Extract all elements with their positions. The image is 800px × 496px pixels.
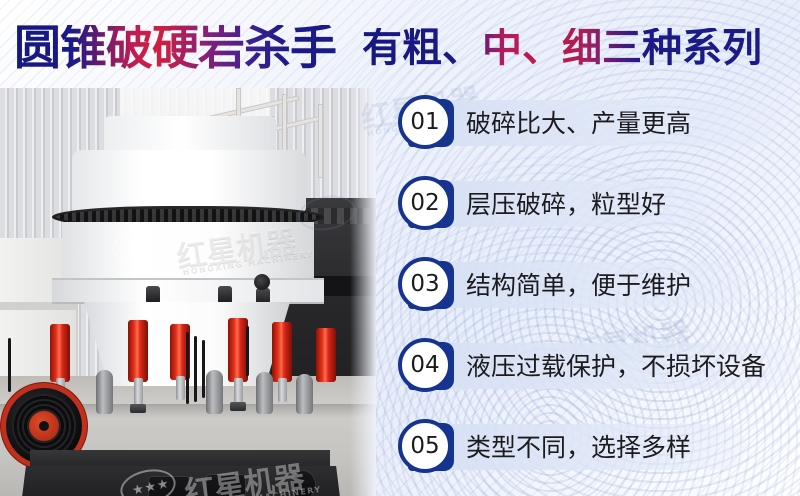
hydraulic-cylinder [272,322,292,382]
photo-inner: ★★★ 红星机器 HONGXING MACHINERY ★★★ 红星机器 HON… [0,88,376,496]
badge-circle-shape: 03 [398,257,452,311]
hydraulic-cylinder [128,320,148,382]
feature-list: 01 破碎比大、产量更高 02 层压破碎，粒型好 03 [398,92,800,496]
pulley-hub [29,411,59,441]
cylinder-rod [278,378,287,402]
badge-circle-shape: 05 [398,419,452,473]
hydraulic-hose [194,336,197,402]
feature-label: 类型不同，选择多样 [466,435,691,460]
base-opening [148,476,190,496]
feature-number: 01 [410,111,439,134]
feature-badge-02: 02 [398,176,454,232]
cylinder-rod [234,378,243,404]
cylinder-cap [230,402,246,411]
headline-primary: 圆锥破硬岩杀手 [14,25,336,72]
hydraulic-hose [8,338,11,392]
badge-circle-shape: 04 [398,338,452,392]
feature-number: 04 [410,354,439,377]
hydraulic-hose [202,340,205,398]
hydraulic-cylinder [50,324,70,382]
cylinder-rod [134,378,143,406]
title-row: 圆锥破硬岩杀手 有粗、中、细三种系列 [0,12,800,84]
badge-circle-shape: 02 [398,176,452,230]
accumulator [256,372,273,414]
badge-circle-shape: 01 [398,95,452,149]
stair-post [318,104,323,178]
headline-secondary: 有粗、中、细三种系列 [362,28,762,68]
feature-label: 液压过载保护，不损坏设备 [466,354,766,379]
cylinder-cap [130,404,146,413]
feature-badge-03: 03 [398,257,454,313]
feature-badge-05: 05 [398,419,454,475]
accumulator [206,370,223,414]
poster-canvas: 圆锥破硬岩杀手 有粗、中、细三种系列 [0,0,800,496]
crusher-middle-frame [62,222,314,286]
base-opening [290,470,316,496]
hydraulic-hose [186,332,189,404]
accumulator [96,370,113,414]
hydraulic-hose [246,326,249,376]
accumulator [296,374,313,414]
feature-badge-01: 01 [398,95,454,151]
feature-number: 02 [410,192,439,215]
feature-number: 03 [410,273,439,296]
base-opening [206,474,246,496]
feature-item-05[interactable]: 05 类型不同，选择多样 [398,416,800,478]
crusher-main-flange [52,278,324,304]
hydraulic-cylinder [316,328,336,382]
photo-right-fade [350,88,376,496]
feature-label: 层压破碎，粒型好 [466,192,666,217]
feature-item-04[interactable]: 04 液压过载保护，不损坏设备 [398,335,800,397]
flange-bolt [218,286,232,304]
feature-number: 05 [410,435,439,458]
valve-knob [254,274,270,290]
feature-label: 结构简单，便于维护 [466,273,691,298]
feature-badge-04: 04 [398,338,454,394]
cone-crusher-photo: ★★★ 红星机器 HONGXING MACHINERY ★★★ 红星机器 HON… [0,88,376,496]
hydraulic-cylinder [228,318,248,382]
flange-bolt [146,286,160,304]
cylinder-rod [176,376,185,400]
feature-item-03[interactable]: 03 结构简单，便于维护 [398,254,800,316]
feature-label: 破碎比大、产量更高 [466,111,691,136]
feature-item-01[interactable]: 01 破碎比大、产量更高 [398,92,800,154]
crusher-upper-frame [72,150,306,212]
feature-item-02[interactable]: 02 层压破碎，粒型好 [398,173,800,235]
